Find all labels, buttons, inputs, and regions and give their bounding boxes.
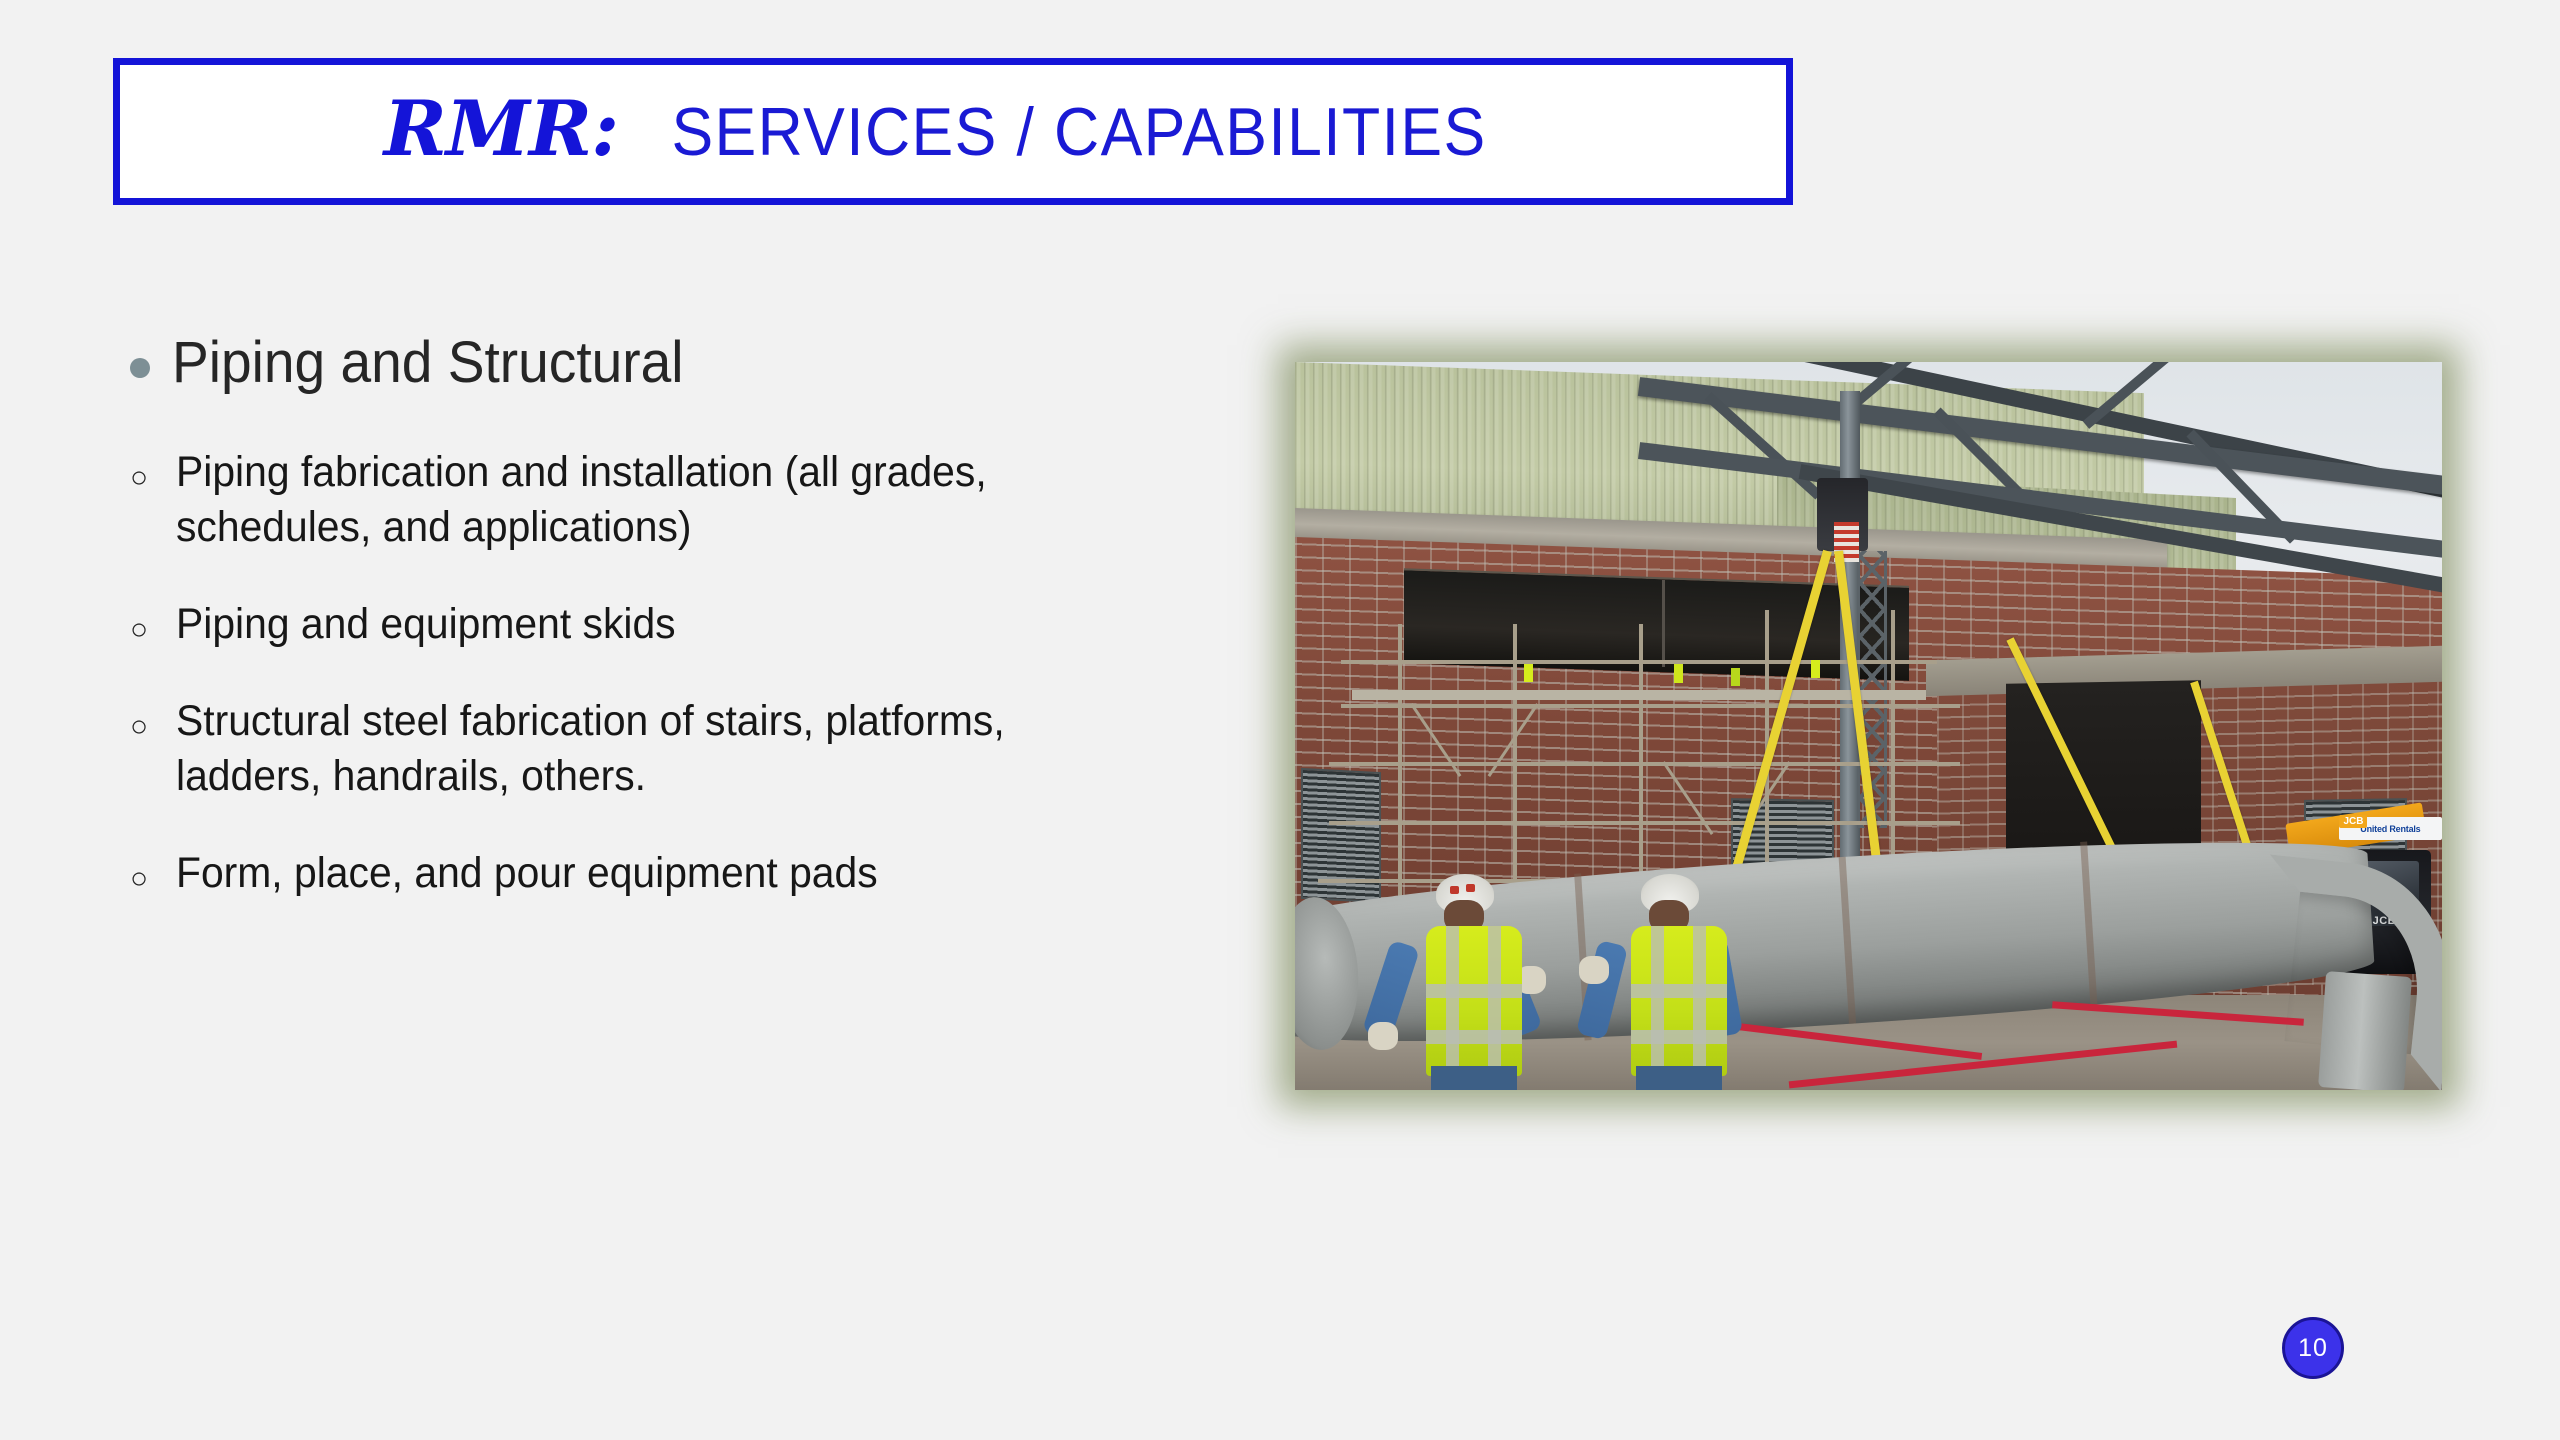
list-item: ○ Form, place, and pour equipment pads: [130, 846, 1260, 901]
hi-vis-vest: [1631, 926, 1727, 1076]
vest-reflective-stripe: [1651, 926, 1664, 1076]
sub-bullet-list: ○ Piping fabrication and installation (a…: [130, 445, 1260, 901]
scaffold-rail: [1329, 821, 1960, 825]
construction-photo: United Rentals JCB JCB: [1295, 362, 2442, 1090]
scaffold-deck: [1352, 690, 1926, 700]
foreground-worker: [1605, 872, 1765, 1090]
scaffold-worker: [1674, 664, 1683, 683]
vest-reflective-stripe: [1631, 1030, 1727, 1044]
scaffold-worker: [1811, 660, 1820, 678]
bullet-dot-icon: [130, 358, 150, 378]
list-item: ○ Piping and equipment skids: [130, 597, 1260, 652]
worker-legs: [1636, 1066, 1722, 1090]
vest-reflective-stripe: [1426, 984, 1522, 998]
worker-glove: [1368, 1022, 1398, 1050]
list-item-label: Piping fabrication and installation (all…: [176, 445, 1136, 555]
worker-legs: [1431, 1066, 1517, 1090]
pipe-elbow-leg: [2318, 971, 2412, 1090]
hard-hat-sticker: [1466, 884, 1475, 892]
foreground-worker: [1398, 870, 1558, 1090]
pipe-weld-band: [2080, 842, 2097, 1010]
hard-hat-sticker: [1450, 886, 1459, 894]
photo-canvas: United Rentals JCB JCB: [1295, 362, 2442, 1090]
hi-vis-vest: [1426, 926, 1522, 1076]
hollow-circle-icon: ○: [130, 615, 176, 645]
vest-reflective-stripe: [1631, 984, 1727, 998]
scaffold-rail: [1341, 704, 1960, 708]
list-item-label: Piping and equipment skids: [176, 597, 676, 652]
scaffold-worker: [1524, 664, 1533, 682]
window-mullion: [1662, 580, 1665, 667]
list-item: ○ Structural steel fabrication of stairs…: [130, 694, 1260, 804]
hollow-circle-icon: ○: [130, 712, 176, 742]
pipe-weld-band: [1838, 857, 1855, 1025]
slide-title: RMR:SERVICES / CAPABILITIES: [384, 91, 1523, 167]
bullet-level1-label: Piping and Structural: [172, 330, 684, 397]
hollow-circle-icon: ○: [130, 463, 176, 493]
worker-glove: [1579, 956, 1609, 984]
hollow-circle-icon: ○: [130, 864, 176, 894]
slide-body: Piping and Structural ○ Piping fabricati…: [130, 330, 1260, 943]
title-brand: RMR:: [384, 84, 619, 173]
vest-reflective-stripe: [1426, 1030, 1522, 1044]
scaffold-worker: [1731, 668, 1740, 686]
list-item: ○ Piping fabrication and installation (a…: [130, 445, 1260, 555]
slide-title-box: RMR:SERVICES / CAPABILITIES: [113, 58, 1793, 205]
vest-reflective-stripe: [1488, 926, 1501, 1076]
list-item-label: Form, place, and pour equipment pads: [176, 846, 878, 901]
vest-reflective-stripe: [1693, 926, 1706, 1076]
vest-reflective-stripe: [1446, 926, 1459, 1076]
list-item-label: Structural steel fabrication of stairs, …: [176, 694, 1136, 804]
telehandler-brand-label: JCB: [2339, 815, 2367, 828]
title-subject: SERVICES / CAPABILITIES: [672, 98, 1487, 166]
bullet-level1: Piping and Structural: [130, 330, 1260, 397]
page-number-badge: 10: [2282, 1317, 2344, 1379]
